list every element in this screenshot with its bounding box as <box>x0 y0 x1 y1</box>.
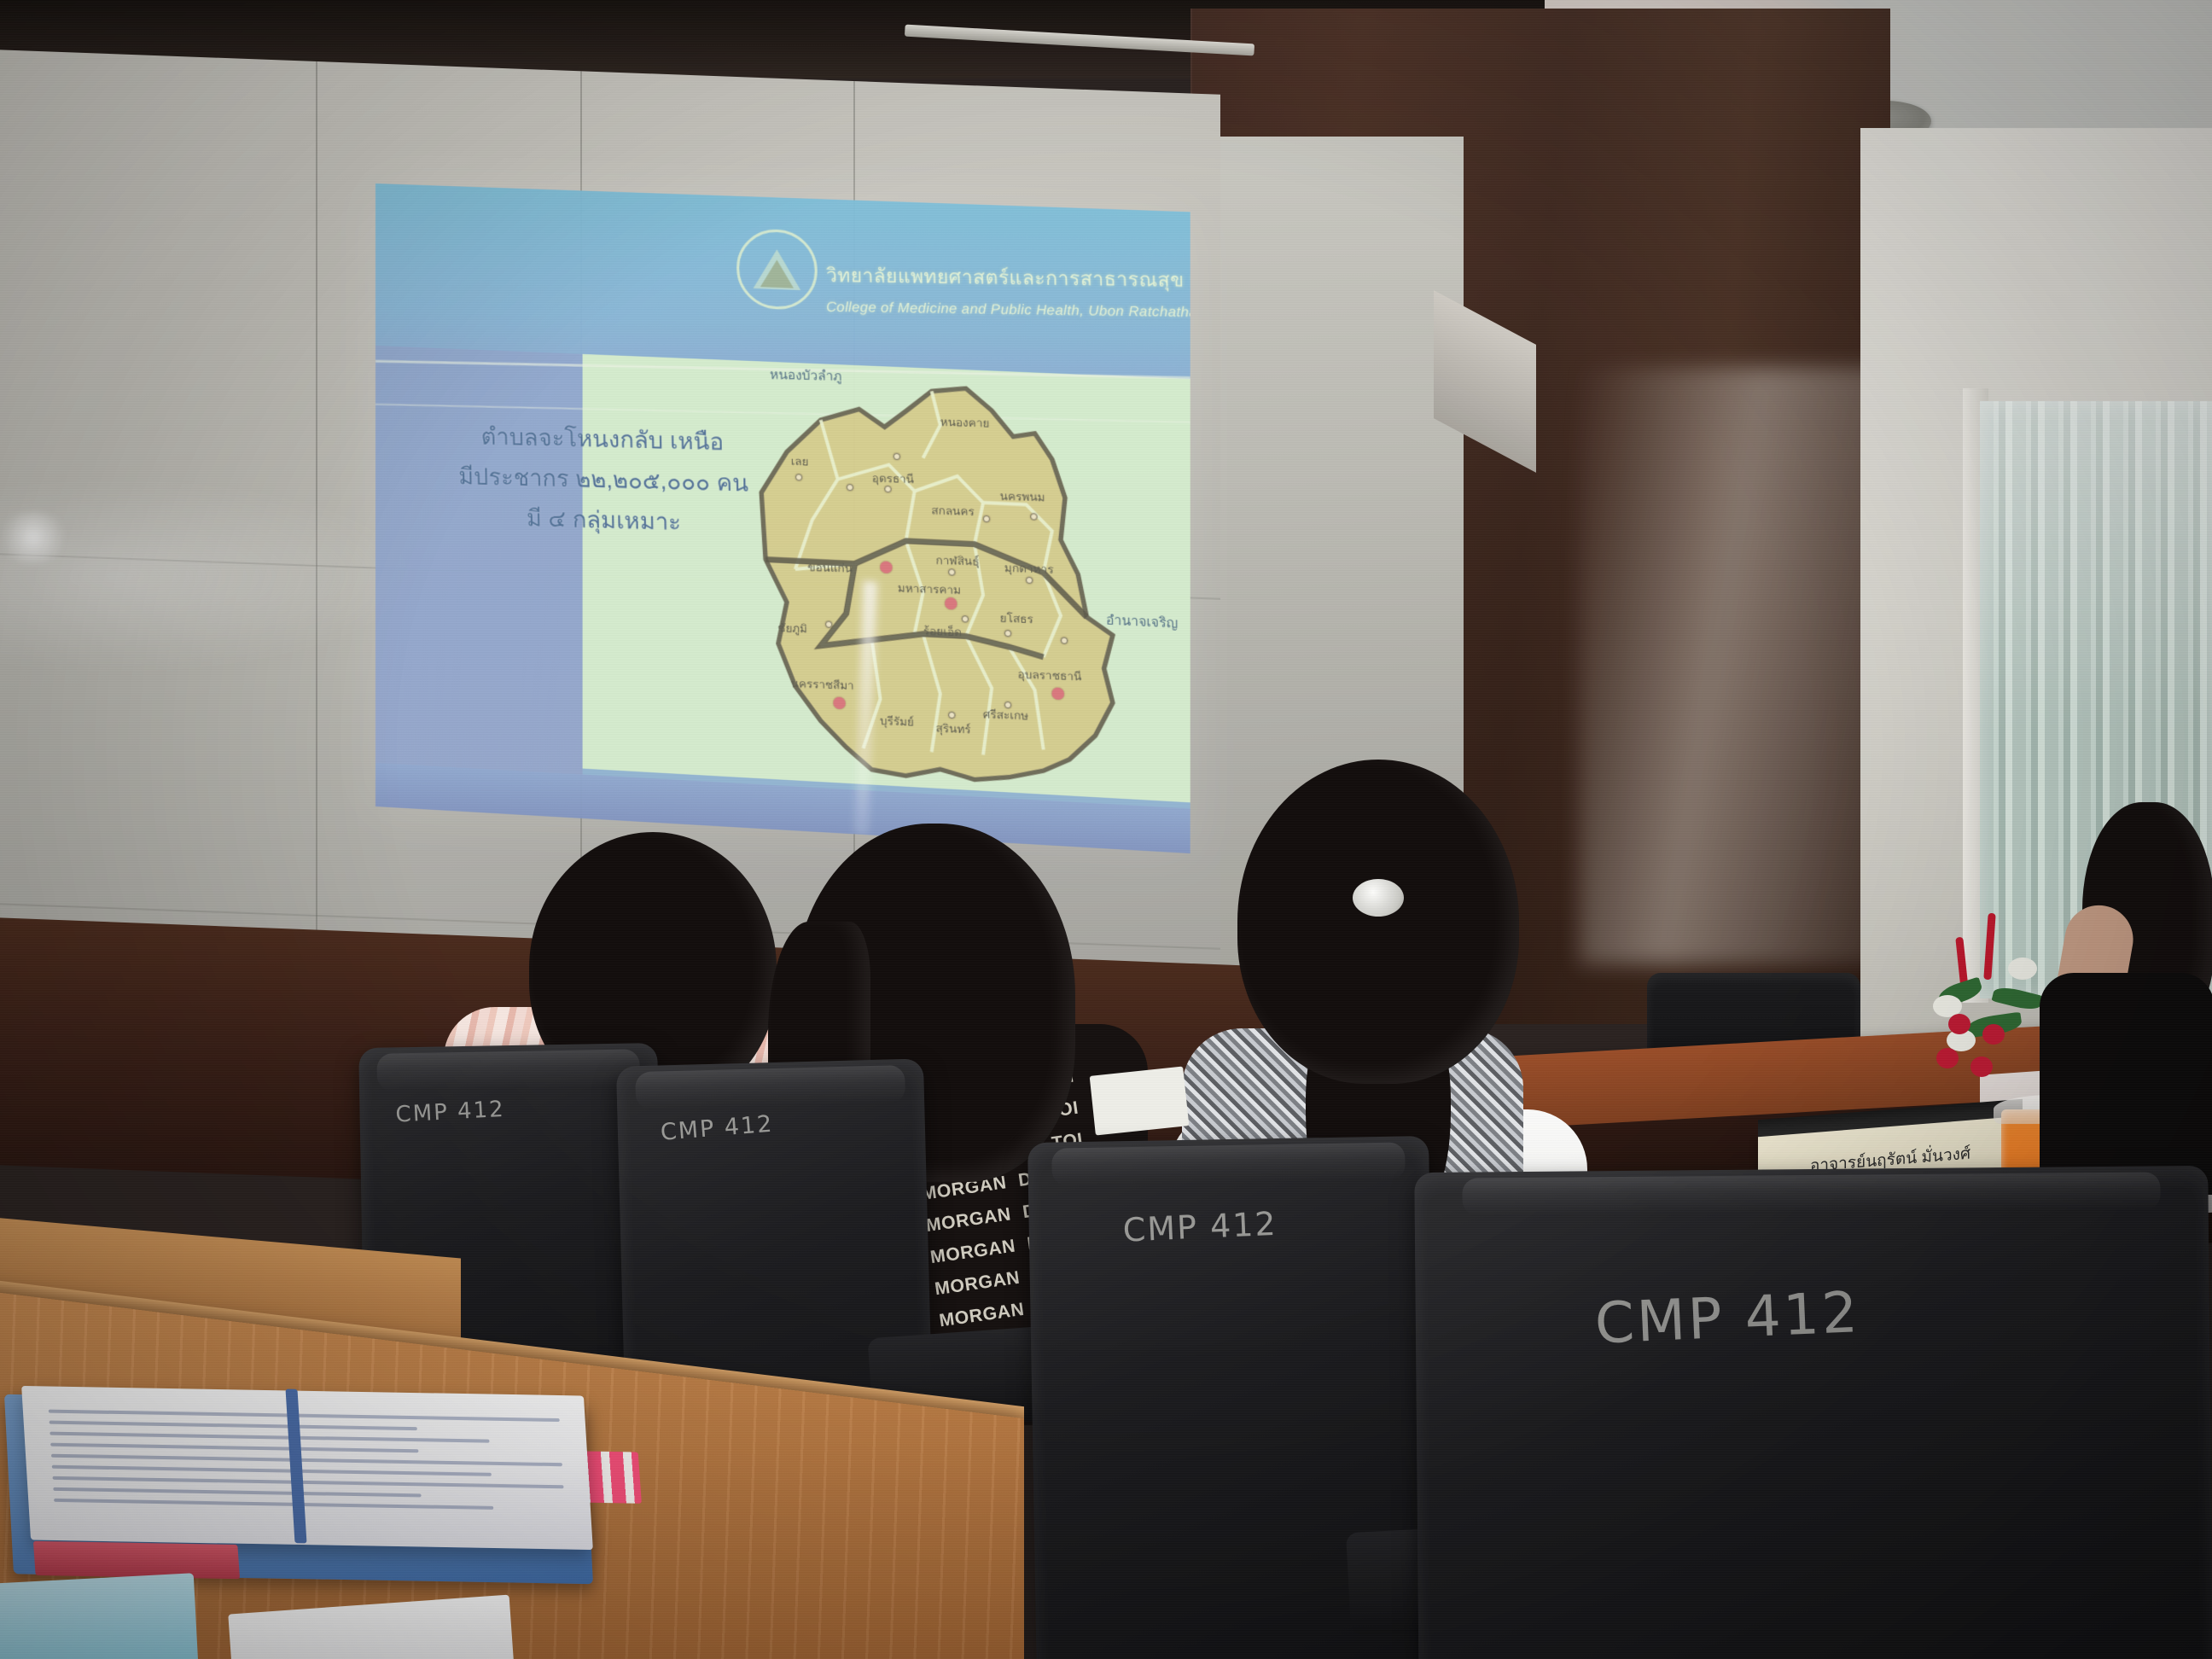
map-label-buriram: บุรีรัมย์ <box>880 712 914 731</box>
map-city-dot <box>1052 687 1065 700</box>
cyan-folder[interactable] <box>0 1573 199 1659</box>
hair-scrunchie <box>1353 879 1404 917</box>
map-label-loei: เลย <box>791 452 809 471</box>
map-label-chaiyaphum: ชัยภูมิ <box>778 619 808 637</box>
classroom-photo-scene: วิทยาลัยแพทยศาสตร์และการสาธารณสุข มหาวิท… <box>0 0 2212 1659</box>
map-label-khonkaen: ขอนแก่น <box>807 558 853 578</box>
chair-label: CMP 412 <box>1593 1279 1861 1356</box>
chair-label: CMP 412 <box>660 1111 775 1146</box>
chair-label: CMP 412 <box>395 1097 506 1128</box>
map-minor-dot <box>962 615 969 623</box>
document-stack[interactable] <box>21 1386 593 1550</box>
map-minor-dot <box>825 621 832 629</box>
map-caption-top: หนองบัวลำภู <box>770 364 842 387</box>
red-book[interactable] <box>33 1541 240 1579</box>
chair-row-right-foreground[interactable]: CMP 412 <box>1414 1166 2212 1659</box>
map-label-mukdahan: มุกดาหาร <box>1004 559 1054 579</box>
projected-slide: วิทยาลัยแพทยศาสตร์และการสาธารณสุข มหาวิท… <box>375 183 1190 853</box>
wood-wall-sheen <box>1579 367 1886 964</box>
map-label-sakonnakhon: สกลนคร <box>931 501 975 521</box>
document-text-lines <box>48 1402 567 1534</box>
map-label-kalasin: กาฬสินธุ์ <box>935 551 979 571</box>
paper-on-desk <box>1090 1066 1190 1135</box>
map-label-surin: สุรินทร์ <box>935 719 970 739</box>
map-city-dot <box>834 696 846 709</box>
far-right-torso <box>2040 973 2212 1195</box>
map-minor-dot <box>846 484 853 492</box>
student-right-hair <box>1237 760 1519 1084</box>
wall-glare <box>0 478 427 674</box>
map-label-ubonratchathani: อุบลราชธานี <box>1017 665 1081 685</box>
isan-region-map: หนองบัวลำภู อำนาจเจริญ เลย หนองคาย อุดรธ… <box>744 367 1173 807</box>
map-label-mahasarakham: มหาสารคาม <box>897 579 960 599</box>
map-label-yasothon: ยโสธร <box>1000 609 1034 629</box>
map-caption-right: อำนาจเจริญ <box>1106 609 1178 634</box>
chair-label: CMP 412 <box>1122 1205 1278 1249</box>
map-minor-dot <box>893 452 899 460</box>
map-label-nongkhai: หนองคาย <box>940 413 989 433</box>
map-minor-dot <box>1061 637 1068 644</box>
map-minor-dot <box>795 474 802 480</box>
map-label-roiet: ร้อยเอ็ด <box>923 622 961 642</box>
map-label-udonthani: อุดรธานี <box>871 469 913 488</box>
map-label-nakhonratchasima: นครราชสีมา <box>791 674 854 695</box>
map-label-nakhonphanom: นครพนม <box>1000 487 1045 507</box>
